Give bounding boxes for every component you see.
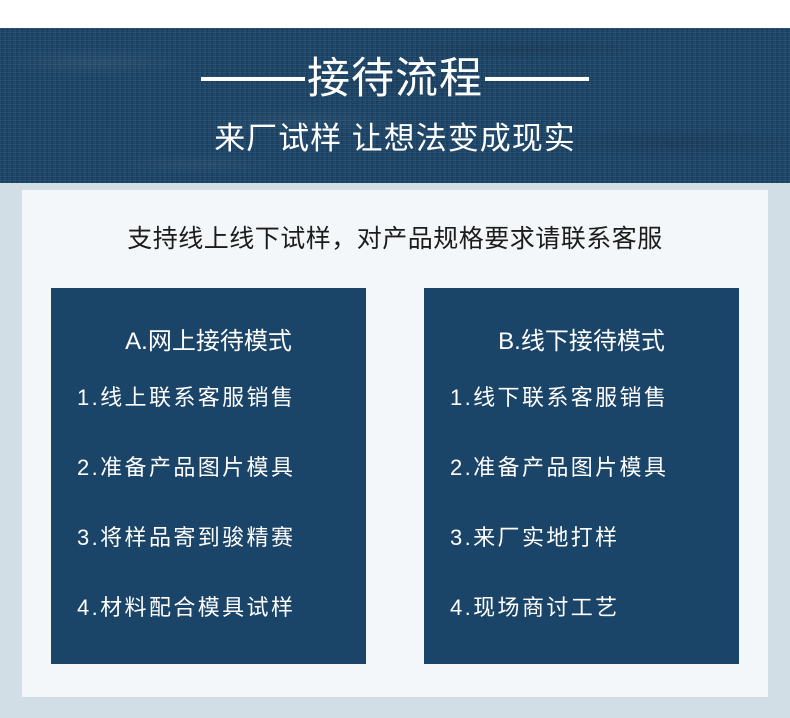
card-title: B.线下接待模式 [424, 326, 739, 358]
list-item: 1.线上联系客服销售 [51, 384, 366, 454]
list-item: 3.将样品寄到骏精赛 [51, 524, 366, 594]
list-item: 3.来厂实地打样 [424, 524, 739, 594]
card-title: A.网上接待模式 [51, 326, 366, 358]
card-step-list: 1.线上联系客服销售 2.准备产品图片模具 3.将样品寄到骏精赛 4.材料配合模… [51, 384, 366, 664]
list-item: 4.现场商讨工艺 [424, 594, 739, 664]
lower-section: 支持线上线下试样，对产品规格要求请联系客服 A.网上接待模式 1.线上联系客服销… [0, 183, 790, 718]
list-item: 2.准备产品图片模具 [51, 454, 366, 524]
list-item: 2.准备产品图片模具 [424, 454, 739, 524]
cards-container: A.网上接待模式 1.线上联系客服销售 2.准备产品图片模具 3.将样品寄到骏精… [51, 288, 739, 664]
card-offline-reception: B.线下接待模式 1.线下联系客服销售 2.准备产品图片模具 3.来厂实地打样 … [424, 288, 739, 664]
page-title: 接待流程 [305, 54, 485, 104]
list-item: 4.材料配合模具试样 [51, 594, 366, 664]
list-item: 1.线下联系客服销售 [424, 384, 739, 454]
content-panel: 支持线上线下试样，对产品规格要求请联系客服 A.网上接待模式 1.线上联系客服销… [22, 190, 768, 697]
page-banner: 接待流程 来厂试样 让想法变成现实 [0, 28, 790, 183]
card-online-reception: A.网上接待模式 1.线上联系客服销售 2.准备产品图片模具 3.将样品寄到骏精… [51, 288, 366, 664]
title-rule-left-icon [201, 77, 305, 81]
top-white-strip [0, 0, 790, 28]
banner-content: 接待流程 来厂试样 让想法变成现实 [0, 28, 790, 183]
card-step-list: 1.线下联系客服销售 2.准备产品图片模具 3.来厂实地打样 4.现场商讨工艺 [424, 384, 739, 664]
banner-title-row: 接待流程 [201, 54, 589, 104]
page-subtitle: 来厂试样 让想法变成现实 [214, 120, 576, 158]
panel-heading: 支持线上线下试样，对产品规格要求请联系客服 [22, 222, 768, 256]
title-rule-right-icon [485, 77, 589, 81]
